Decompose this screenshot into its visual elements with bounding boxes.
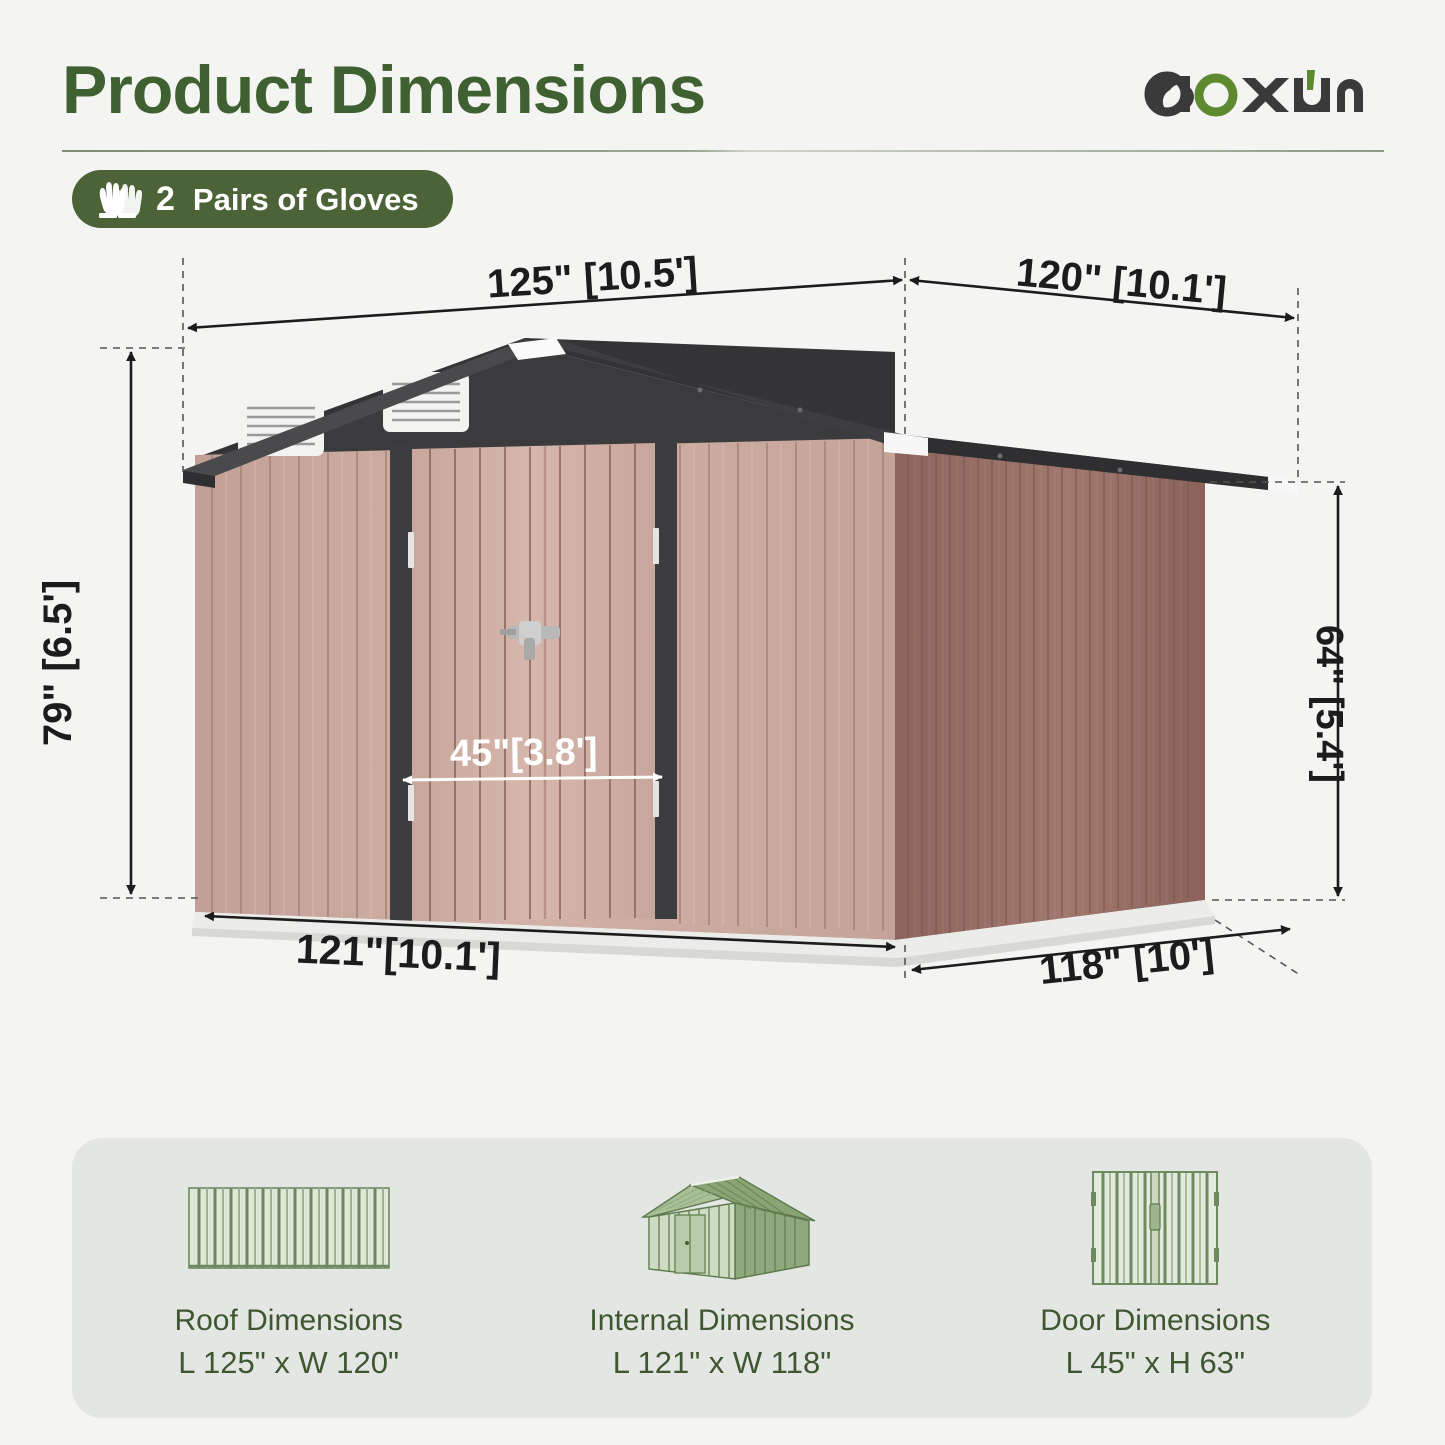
dim-wall-height: 64" [5.4'] [1310,625,1348,783]
double-door-icon [1089,1168,1221,1288]
roof-panel-icon [186,1168,392,1288]
brand-logo [1137,62,1387,126]
dim-door-width: 45"[3.8'] [450,733,598,773]
gloves-badge: 2 Pairs of Gloves [72,170,453,228]
gloves-label: Pairs of Gloves [193,184,419,215]
spec-card-value: L 121" x W 118" [613,1345,831,1381]
page-title: Product Dimensions [62,56,705,124]
gloves-count: 2 [156,182,175,216]
spec-card-title: Roof Dimensions [174,1304,402,1339]
header-divider [62,150,1384,152]
spec-card-value: L 45" x H 63" [1066,1345,1245,1381]
product-dimensions-infographic: Product Dimensions [0,0,1445,1445]
gloves-icon [94,177,142,221]
dim-base-length: 121"[10.1'] [295,929,501,979]
shed-diagram: 125" [10.5'] 120" [10.1'] 79" [6.5'] 64"… [0,240,1445,1030]
spec-card-title: Internal Dimensions [589,1304,854,1339]
shed-3d-icon [619,1168,825,1288]
spec-card-door: Door Dimensions L 45" x H 63" [939,1138,1372,1418]
spec-card-value: L 125" x W 120" [178,1345,399,1381]
spec-card-roof: Roof Dimensions L 125" x W 120" [72,1138,505,1418]
dim-overall-height: 79" [6.5'] [38,580,78,746]
spec-card-title: Door Dimensions [1040,1304,1270,1339]
spec-card-internal: Internal Dimensions L 121" x W 118" [505,1138,938,1418]
spec-panel: Roof Dimensions L 125" x W 120" [72,1138,1372,1418]
